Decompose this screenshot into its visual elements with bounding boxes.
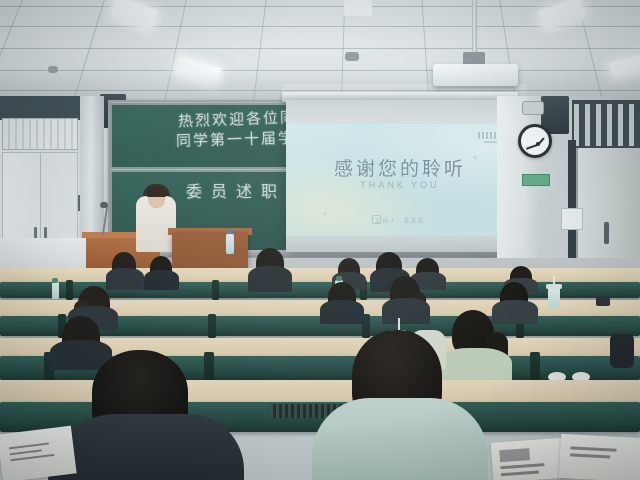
slide-title: 感谢您的聆听 — [286, 154, 514, 181]
smartphone-icon — [596, 296, 610, 306]
slide-credit: 汇报人：某某某 — [286, 216, 514, 225]
open-book-right-page — [559, 434, 640, 480]
lecture-hall-photo: 热烈欢迎各位同学 同学第一十届学生会 委员述职评议 ——经济与管理学院 2024… — [0, 0, 640, 480]
wall-plate-icon — [561, 208, 583, 230]
student-foreground-right-body — [312, 398, 488, 480]
transom-window-left — [2, 118, 78, 150]
door-handle-icon[interactable] — [604, 222, 609, 244]
wall-clock-icon — [518, 124, 552, 158]
projector-pole — [472, 0, 477, 60]
exit-sign-icon — [522, 174, 550, 186]
bottle-cap-1 — [52, 278, 58, 283]
microphone-icon — [100, 202, 108, 208]
water-bottle-1 — [52, 282, 59, 299]
presentation-slide: ✦ ✦ 感谢您的聆听 THANK YOU 汇报人：某某某 — [286, 124, 514, 236]
wall-sensor-icon — [522, 101, 544, 115]
screen-blank-top — [286, 100, 514, 126]
drink-cup-1 — [548, 286, 560, 308]
water-bottle-podium — [226, 234, 234, 254]
student-row3-d — [610, 334, 634, 368]
cup-lid-1 — [546, 284, 562, 289]
projector-icon — [433, 64, 518, 86]
papers-on-desk — [0, 426, 77, 480]
bottle-cap-2 — [336, 276, 342, 281]
presenter-hair-front — [146, 186, 167, 197]
slide-subtitle: THANK YOU — [286, 180, 514, 190]
ceiling-vent — [344, 0, 372, 16]
clock-center — [536, 142, 540, 146]
projection-screen: ✦ ✦ 感谢您的聆听 THANK YOU 汇报人：某某某 — [286, 100, 514, 252]
ceiling-camera-icon — [345, 52, 359, 61]
screen-bottom-band — [286, 236, 514, 252]
window-grille-bars — [574, 104, 638, 146]
